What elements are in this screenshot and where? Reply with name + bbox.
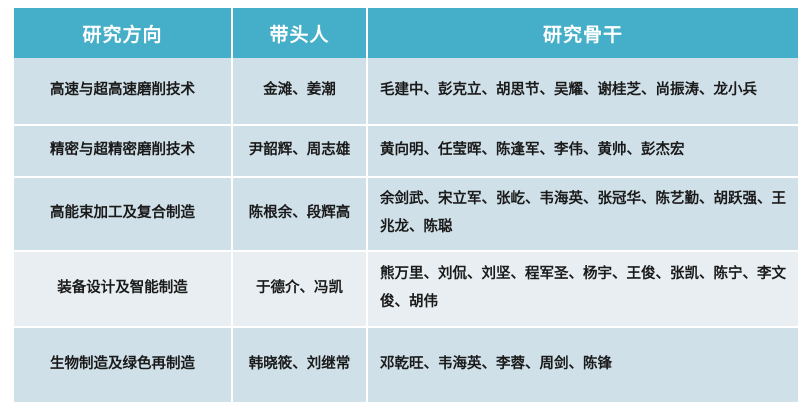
table-body: 高速与超高速磨削技术 金滩、姜潮 毛建中、彭克立、胡思节、吴耀、谢桂芝、尚振涛、… [14,58,798,402]
cell-members: 毛建中、彭克立、胡思节、吴耀、谢桂芝、尚振涛、龙小兵 [368,58,798,126]
cell-research-direction: 高能束加工及复合制造 [14,178,233,252]
cell-members: 余剑武、宋立军、张屹、韦海英、张冠华、陈艺勤、胡跃强、王兆龙、陈聪 [368,178,798,252]
cell-members: 熊万里、刘侃、刘坚、程军圣、杨宇、王俊、张凯、陈宁、李文俊、胡伟 [368,252,798,328]
column-header-direction: 研究方向 [14,8,233,58]
table-row: 高能束加工及复合制造 陈根余、段辉高 余剑武、宋立军、张屹、韦海英、张冠华、陈艺… [14,178,798,252]
cell-research-direction: 生物制造及绿色再制造 [14,328,233,402]
cell-members: 黄向明、任莹晖、陈逢军、李伟、黄帅、彭杰宏 [368,126,798,178]
table-row: 生物制造及绿色再制造 韩晓筱、刘继常 邓乾旺、韦海英、李蓉、周剑、陈锋 [14,328,798,402]
table-row: 精密与超精密磨削技术 尹韶辉、周志雄 黄向明、任莹晖、陈逢军、李伟、黄帅、彭杰宏 [14,126,798,178]
cell-research-direction: 装备设计及智能制造 [14,252,233,328]
cell-leader: 尹韶辉、周志雄 [233,126,368,178]
cell-leader: 金滩、姜潮 [233,58,368,126]
table-row: 高速与超高速磨削技术 金滩、姜潮 毛建中、彭克立、胡思节、吴耀、谢桂芝、尚振涛、… [14,58,798,126]
cell-research-direction: 精密与超精密磨削技术 [14,126,233,178]
research-table-container: 研究方向 带头人 研究骨干 高速与超高速磨削技术 金滩、姜潮 毛建中、彭克立、胡… [14,8,798,412]
cell-members: 邓乾旺、韦海英、李蓉、周剑、陈锋 [368,328,798,402]
column-header-members: 研究骨干 [368,8,798,58]
column-header-leader: 带头人 [233,8,368,58]
table-header: 研究方向 带头人 研究骨干 [14,8,798,58]
table-header-row: 研究方向 带头人 研究骨干 [14,8,798,58]
research-directions-table: 研究方向 带头人 研究骨干 高速与超高速磨削技术 金滩、姜潮 毛建中、彭克立、胡… [14,8,798,402]
cell-leader: 陈根余、段辉高 [233,178,368,252]
cell-leader: 韩晓筱、刘继常 [233,328,368,402]
cell-research-direction: 高速与超高速磨削技术 [14,58,233,126]
table-row: 装备设计及智能制造 于德介、冯凯 熊万里、刘侃、刘坚、程军圣、杨宇、王俊、张凯、… [14,252,798,328]
cell-leader: 于德介、冯凯 [233,252,368,328]
